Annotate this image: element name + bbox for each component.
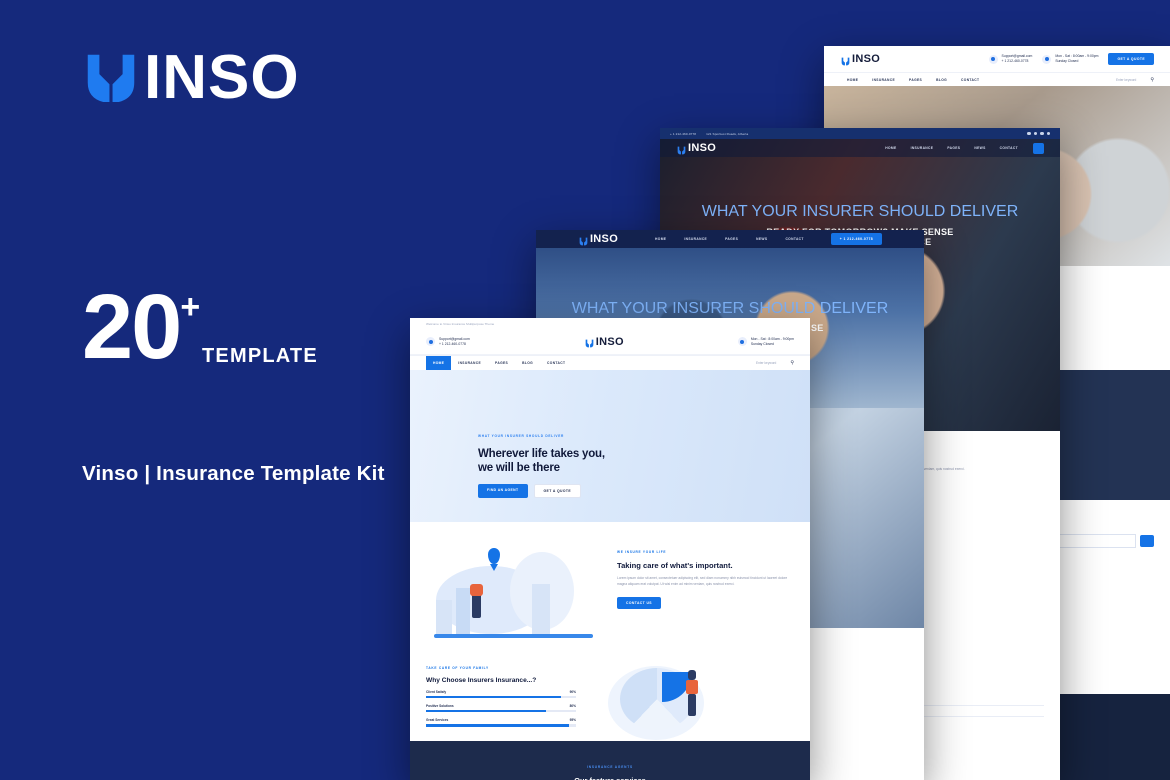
nav-item-pages[interactable]: PAGES <box>718 232 745 246</box>
hands-logo-icon <box>676 143 687 154</box>
front-hero: WHAT YOUR INSURER SHOULD DELIVER Whereve… <box>410 370 810 522</box>
bar-label: Client Satisfy <box>426 690 446 694</box>
nav-item-pages[interactable]: PAGES <box>902 73 929 87</box>
front-search-input[interactable]: Enter keyword <box>756 361 776 365</box>
person-torso <box>686 680 698 694</box>
building-shape <box>456 588 470 634</box>
pie-illustration <box>576 656 794 727</box>
bar-fill <box>426 724 569 726</box>
nav-item-home[interactable]: HOME <box>878 141 903 155</box>
promo-panel: INSO 20 + TEMPLATE Vinso | Insurance Tem… <box>0 0 420 780</box>
selfie-hero-eyebrow: WHAT YOUR INSURER SHOULD DELIVER <box>536 300 924 318</box>
why-eyebrow: TAKE CARE OF YOUR FAMILY <box>426 666 489 670</box>
elder-contact-email: Support@gmail.com+ 1 212-460-0778 <box>989 54 1033 64</box>
template-count-plus: + <box>180 290 200 324</box>
elder-quote-button[interactable]: GET A QUOTE <box>1108 53 1154 65</box>
bar-label: Great Services <box>426 718 448 722</box>
contact-us-button[interactable]: CONTACT US <box>617 597 661 609</box>
front-header: Support@gmail.com + 1 212-460-0778 INSO … <box>410 329 810 355</box>
person-legs <box>688 694 696 716</box>
twitter-icon <box>1034 132 1037 135</box>
person-head <box>688 670 696 680</box>
front-hero-title-2: we will be there <box>478 461 628 475</box>
template-count-number: 20 <box>82 288 180 366</box>
clock-icon <box>738 337 747 346</box>
selfie-nav[interactable]: INSO HOME INSURANCE PAGES NEWS CONTACT +… <box>536 230 924 248</box>
nav-item-contact[interactable]: CONTACT <box>954 73 986 87</box>
nav-item-home[interactable]: HOME <box>840 73 865 87</box>
elder-hours-sub: Sunday Closed <box>1055 59 1098 64</box>
newsletter-submit-button[interactable] <box>1140 535 1154 547</box>
search-icon[interactable]: ⚲ <box>1150 77 1154 83</box>
bar-track <box>426 710 576 712</box>
nav-item-home[interactable]: HOME <box>426 356 451 370</box>
about-eyebrow: WE INSURE YOUR LIFE <box>617 550 666 554</box>
envelope-icon <box>426 337 435 346</box>
brand-name: INSO <box>144 47 300 109</box>
about-illustration <box>426 540 601 640</box>
car-logo[interactable]: INSO <box>676 142 716 154</box>
front-hours-sub: Sunday Closed <box>751 342 794 347</box>
front-logo-text: INSO <box>596 336 624 348</box>
about-copy: WE INSURE YOUR LIFE Taking care of what'… <box>601 540 794 640</box>
elder-logo-text: INSO <box>852 53 880 65</box>
nav-item-insurance[interactable]: INSURANCE <box>904 141 941 155</box>
selfie-cta-button[interactable]: + 1 212-460-0778 <box>831 233 882 245</box>
building-shape <box>532 584 550 634</box>
front-hero-eyebrow: WHAT YOUR INSURER SHOULD DELIVER <box>478 434 564 438</box>
elder-nav[interactable]: HOME INSURANCE PAGES BLOG CONTACT Enter … <box>824 72 1170 86</box>
front-hero-buttons: FIND AN AGENT GET A QUOTE <box>478 484 628 498</box>
front-phone: + 1 212-460-0778 <box>439 342 470 347</box>
bar-track <box>426 696 576 698</box>
front-hero-title-1: Wherever life takes you, <box>478 447 628 461</box>
promo-subtitle: Vinso | Insurance Template Kit <box>82 462 385 486</box>
car-topbar: + 1 212-460-0778 121 Sportiest Roads, Al… <box>660 128 1060 139</box>
get-quote-button[interactable]: GET A QUOTE <box>534 484 582 498</box>
progress-bar-row: Great Services95% <box>426 718 576 726</box>
front-why-section: TAKE CARE OF YOUR FAMILY Why Choose Insu… <box>410 650 810 741</box>
car-topbar-address: 121 Sportiest Roads, Alberta <box>706 132 748 136</box>
nav-item-contact[interactable]: CONTACT <box>540 356 572 370</box>
selfie-logo-text: INSO <box>590 233 618 245</box>
nav-item-home[interactable]: HOME <box>648 232 673 246</box>
nav-item-contact[interactable]: CONTACT <box>993 141 1025 155</box>
bar-fill <box>426 696 561 698</box>
instagram-icon <box>1040 132 1043 135</box>
front-topbar: Welcome to Vinso Insurance Multipurpose … <box>410 318 810 329</box>
nav-item-insurance[interactable]: INSURANCE <box>677 232 714 246</box>
clock-icon <box>1042 55 1051 64</box>
search-icon[interactable] <box>1033 143 1044 154</box>
facebook-icon <box>1027 132 1030 135</box>
nav-item-news[interactable]: NEWS <box>967 141 992 155</box>
progress-bar-row: Positive Solutions80% <box>426 704 576 712</box>
about-body: Lorem ipsum dolor sit amet, consectetuer… <box>617 575 794 588</box>
search-icon[interactable]: ⚲ <box>790 360 794 366</box>
why-title: Why Choose Insurers Insurance...? <box>426 677 576 684</box>
front-about-section: WE INSURE YOUR LIFE Taking care of what'… <box>410 522 810 650</box>
front-logo[interactable]: INSO <box>584 336 624 348</box>
nav-item-contact[interactable]: CONTACT <box>778 232 810 246</box>
hands-logo-icon <box>80 47 142 109</box>
bar-fill <box>426 710 546 712</box>
features-eyebrow: INSURANCE AGENTS <box>587 765 633 769</box>
template-count-label: TEMPLATE <box>202 345 318 368</box>
hands-logo-icon <box>584 336 595 347</box>
hands-logo-icon <box>840 54 851 65</box>
elder-search-input[interactable]: Enter keyword <box>1116 78 1136 82</box>
front-nav[interactable]: HOME INSURANCE PAGES BLOG CONTACT Enter … <box>410 355 810 370</box>
elder-logo[interactable]: INSO <box>840 53 880 65</box>
about-title: Taking care of what's important. <box>617 561 794 570</box>
front-topbar-text: Welcome to Vinso Insurance Multipurpose … <box>426 322 494 326</box>
linkedin-icon <box>1047 132 1050 135</box>
bar-label: Positive Solutions <box>426 704 454 708</box>
ground-line <box>434 634 593 638</box>
front-email: Support@gmail.com <box>439 337 470 342</box>
front-hero-copy: WHAT YOUR INSURER SHOULD DELIVER Whereve… <box>478 424 628 498</box>
features-title: Our feature services <box>426 776 794 780</box>
nav-item-insurance[interactable]: INSURANCE <box>865 73 902 87</box>
car-topbar-social[interactable] <box>1027 132 1050 135</box>
front-hours-main: Mon - Sat : 8:00am - 9:00pm <box>751 337 794 342</box>
front-hours: Mon - Sat : 8:00am - 9:00pm Sunday Close… <box>738 337 794 347</box>
car-nav[interactable]: INSO HOME INSURANCE PAGES NEWS CONTACT <box>660 139 1060 157</box>
nav-item-insurance[interactable]: INSURANCE <box>451 356 488 370</box>
elder-phone: + 1 212-460-0778 <box>1002 59 1033 64</box>
map-pin-icon <box>488 548 500 564</box>
find-agent-button[interactable]: FIND AN AGENT <box>478 484 528 498</box>
elder-hours: Mon - Sat : 8:00am - 9:00pmSunday Closed <box>1042 54 1098 64</box>
brand-logo: INSO <box>80 47 300 109</box>
envelope-icon <box>989 55 998 64</box>
progress-bar-row: Client Satisfy90% <box>426 690 576 698</box>
front-features-section: INSURANCE AGENTS Our feature services <box>410 741 810 780</box>
why-copy: TAKE CARE OF YOUR FAMILY Why Choose Insu… <box>426 656 576 727</box>
elder-header: INSO Support@gmail.com+ 1 212-460-0778 M… <box>824 46 1170 72</box>
hands-logo-icon <box>578 234 589 245</box>
nav-item-pages[interactable]: PAGES <box>488 356 515 370</box>
nav-item-news[interactable]: NEWS <box>749 232 774 246</box>
car-logo-text: INSO <box>688 142 716 154</box>
selfie-logo[interactable]: INSO <box>578 233 618 245</box>
template-count: 20 + <box>82 288 200 366</box>
nav-item-pages[interactable]: PAGES <box>940 141 967 155</box>
bar-track <box>426 724 576 726</box>
building-shape <box>436 600 452 634</box>
mockup-front[interactable]: Welcome to Vinso Insurance Multipurpose … <box>410 318 810 780</box>
nav-item-blog[interactable]: BLOG <box>515 356 540 370</box>
person-torso <box>470 584 483 596</box>
front-contact: Support@gmail.com + 1 212-460-0778 <box>426 337 470 347</box>
car-hero-eyebrow: WHAT YOUR INSURER SHOULD DELIVER <box>688 203 1032 221</box>
poster-canvas: INSO Support@gmail.com+ 1 212-460-0778 M… <box>0 0 1170 780</box>
car-topbar-phone: + 1 212-460-0778 <box>670 132 696 136</box>
nav-item-blog[interactable]: BLOG <box>929 73 954 87</box>
